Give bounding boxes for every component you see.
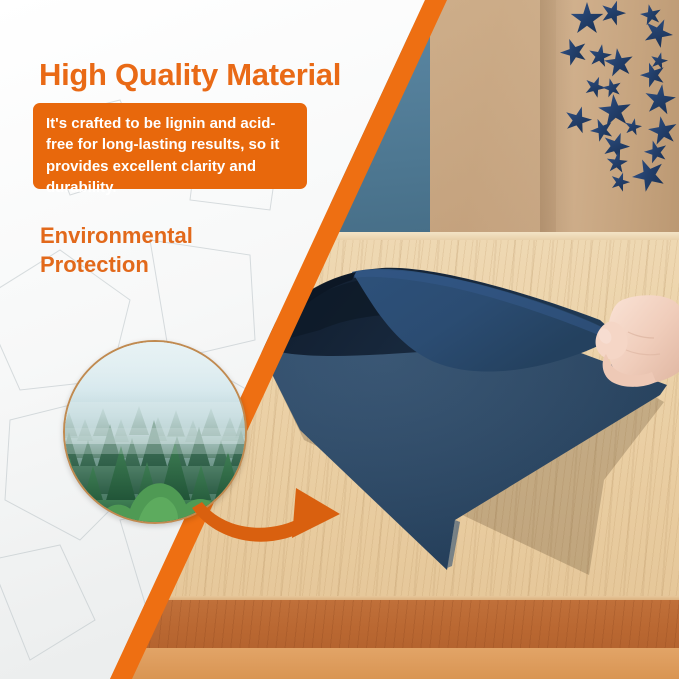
hand-lifting-paper [592, 292, 679, 412]
feature-callout-text: It's crafted to be lignin and acid-free … [46, 113, 294, 199]
subtitle-line-2: Protection [40, 252, 149, 277]
page-title: High Quality Material [39, 57, 341, 93]
curved-orange-arrow [188, 482, 358, 562]
subtitle-line-1: Environmental [40, 223, 193, 248]
section-subtitle: Environmental Protection [40, 222, 270, 279]
feature-callout-box: It's crafted to be lignin and acid-free … [33, 103, 307, 189]
product-feature-graphic: High Quality Material It's crafted to be… [0, 0, 679, 679]
